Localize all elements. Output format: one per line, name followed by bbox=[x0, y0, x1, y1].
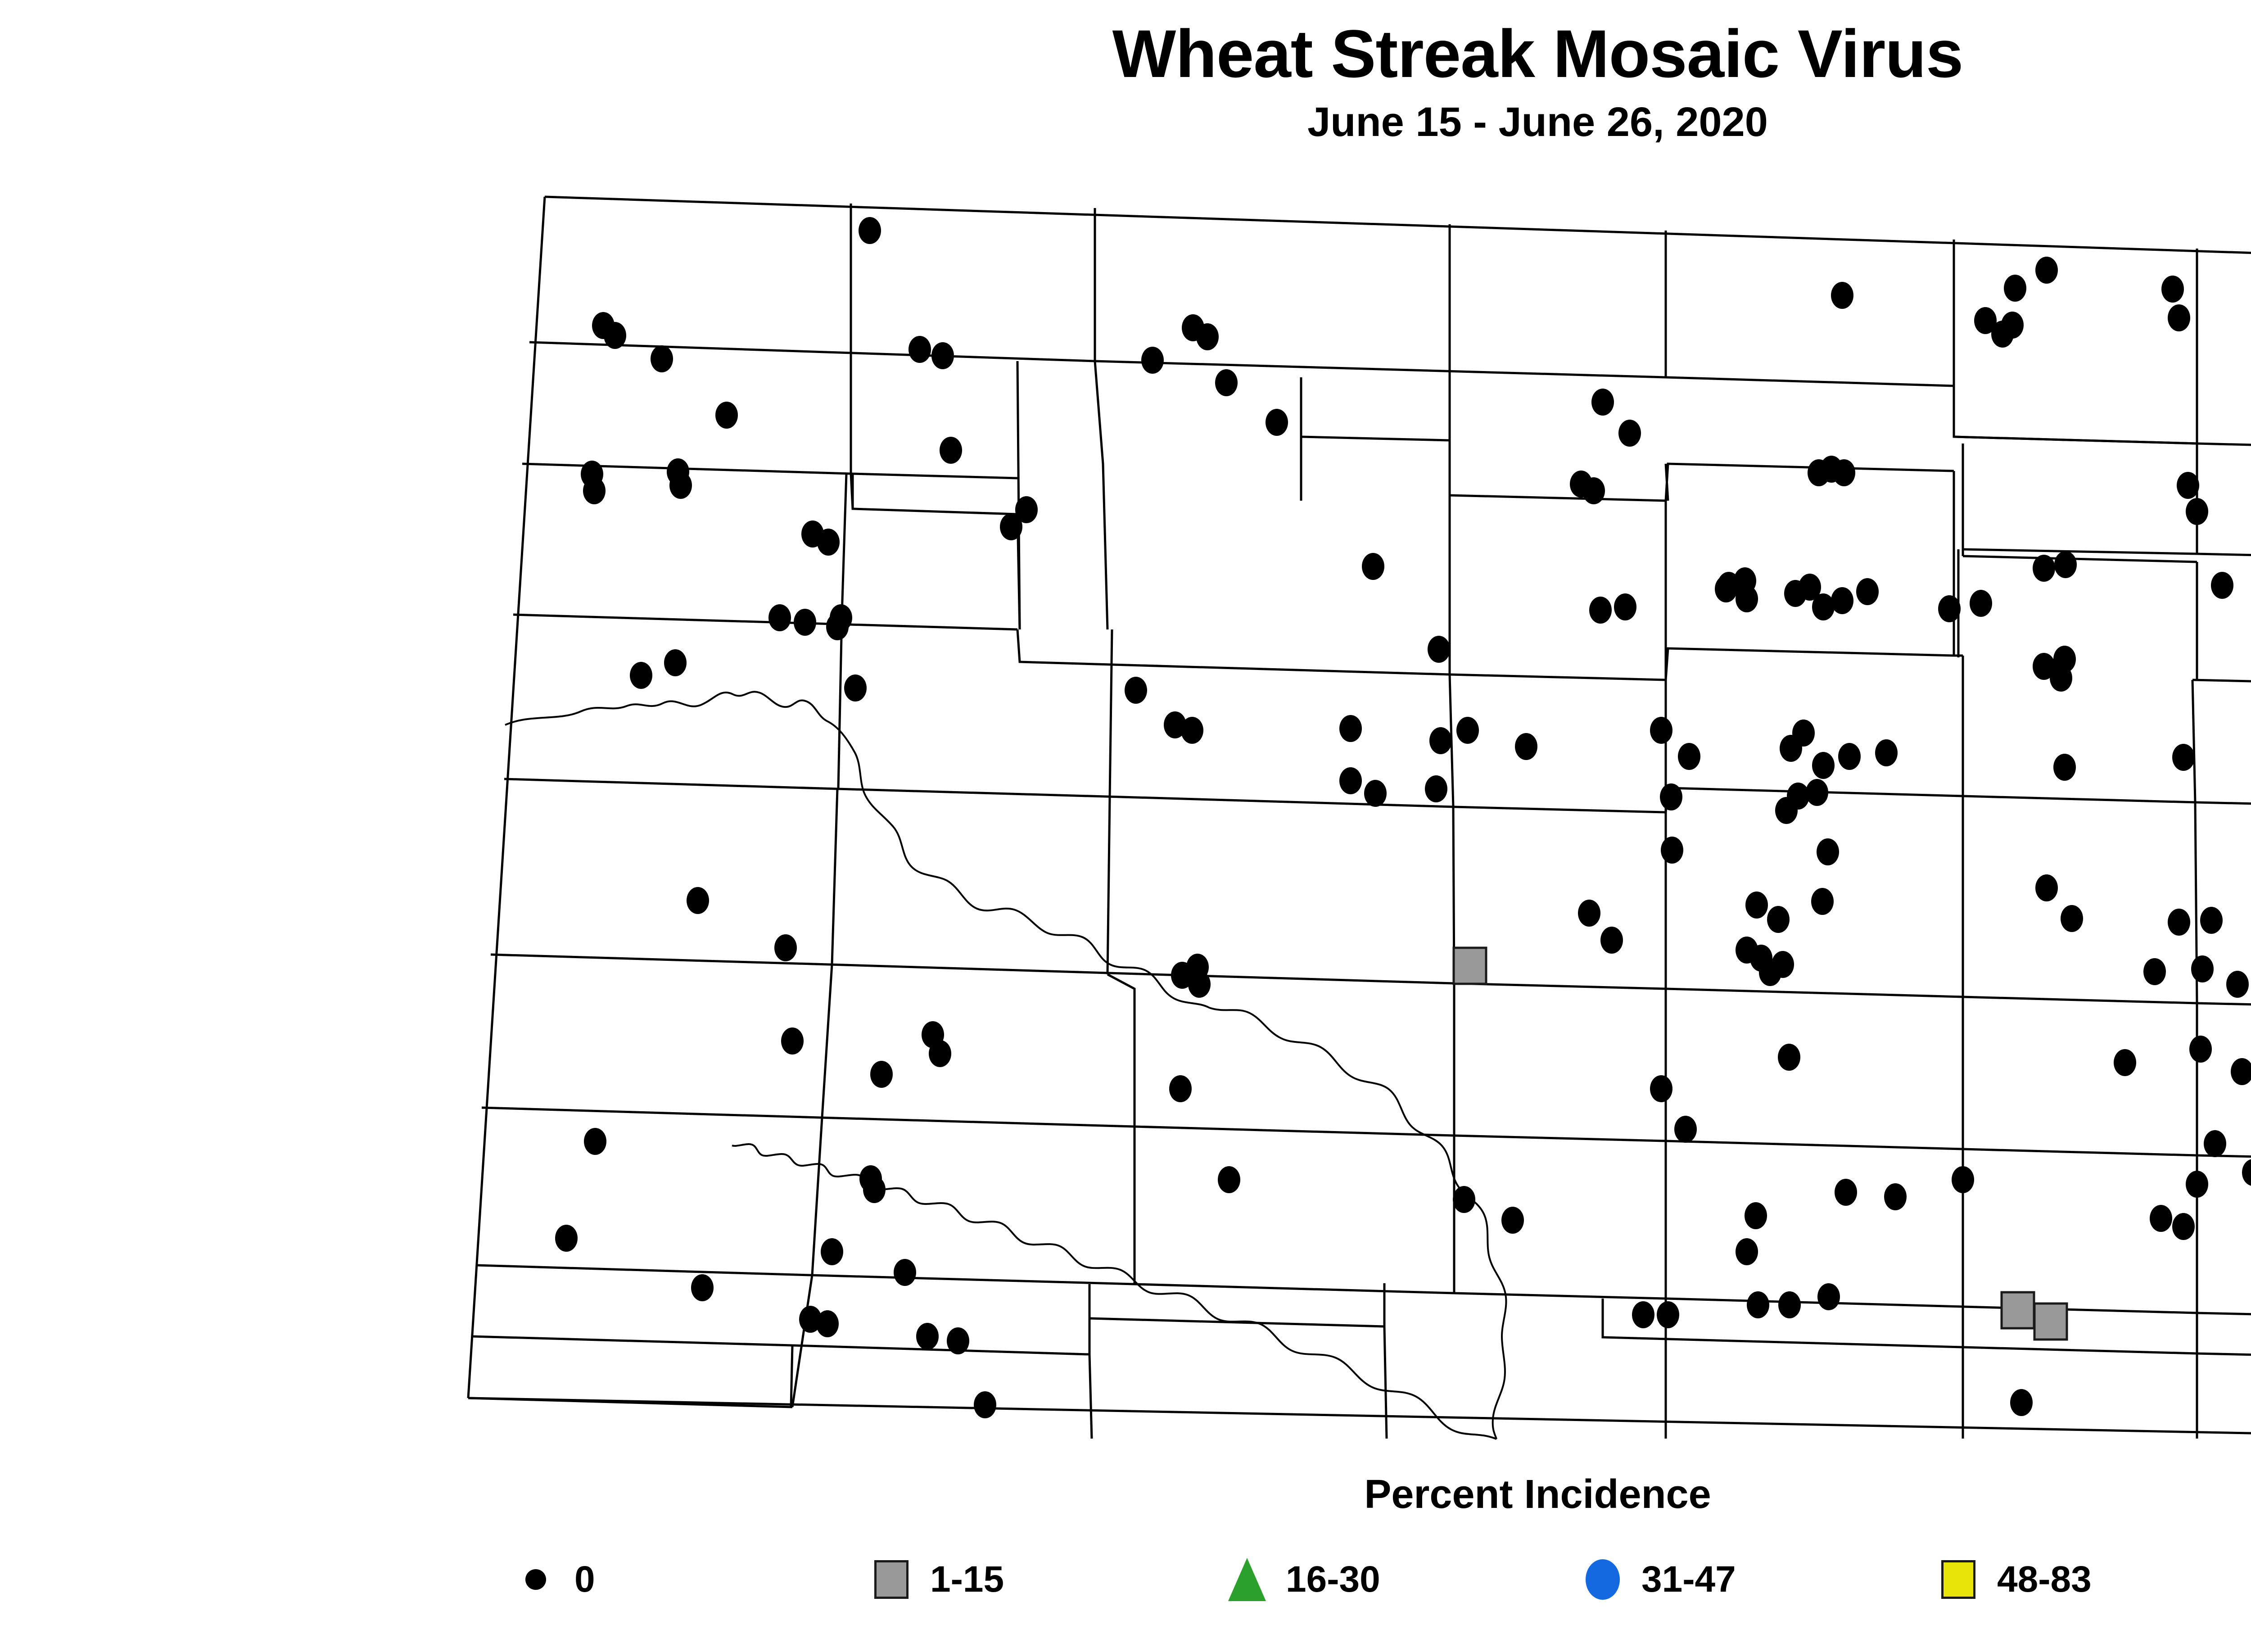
map-data-point bbox=[826, 613, 849, 640]
map-data-point bbox=[1181, 717, 1203, 744]
map-data-point bbox=[1456, 717, 1479, 744]
map-data-point bbox=[2033, 555, 2055, 582]
map-data-point bbox=[1578, 900, 1600, 927]
legend-square-icon bbox=[864, 1543, 918, 1616]
legend-item-label: 48-83 bbox=[1985, 1558, 2092, 1601]
map-data-point bbox=[1775, 797, 1798, 824]
map-data-point bbox=[1747, 1291, 1769, 1318]
map-data-point bbox=[2050, 665, 2072, 692]
map-data-point bbox=[2035, 257, 2058, 284]
map-data-point bbox=[2211, 572, 2233, 599]
map-data-point bbox=[2191, 955, 2214, 982]
map-data-point bbox=[1838, 743, 1861, 770]
legend-symbol bbox=[525, 1569, 546, 1590]
map-data-point bbox=[1817, 838, 1839, 865]
map-data-point bbox=[584, 1128, 606, 1155]
map-data-point bbox=[687, 887, 709, 914]
map-data-point bbox=[664, 649, 687, 676]
map-data-point bbox=[863, 1176, 886, 1203]
map-data-point bbox=[1169, 1075, 1192, 1102]
map-data-point bbox=[2034, 1303, 2067, 1340]
map-data-point bbox=[2172, 1213, 2195, 1240]
map-data-point bbox=[1454, 948, 1486, 984]
map-data-point bbox=[2189, 1036, 2212, 1063]
map-data-point bbox=[1600, 927, 1623, 954]
map-data-point bbox=[1745, 892, 1768, 919]
legend-triangle-icon bbox=[1220, 1543, 1274, 1616]
map-data-point bbox=[1835, 1179, 1857, 1206]
map-data-point bbox=[1196, 323, 1219, 350]
map-data-point bbox=[1817, 1283, 1840, 1310]
map-data-point bbox=[2035, 874, 2058, 901]
map-data-point bbox=[940, 437, 962, 464]
map-data-point bbox=[669, 472, 692, 499]
map-data-point bbox=[1632, 1301, 1654, 1328]
map-data-point bbox=[2231, 1058, 2251, 1085]
map-data-point bbox=[1811, 888, 1834, 915]
map-data-point bbox=[1767, 906, 1790, 933]
map-data-point bbox=[859, 217, 881, 244]
map-data-point bbox=[794, 609, 816, 636]
map-data-point bbox=[1362, 553, 1384, 580]
legend-item-label: 1-15 bbox=[918, 1558, 1004, 1601]
map-data-point bbox=[1778, 1291, 1801, 1318]
map-data-point bbox=[1812, 752, 1835, 779]
map-data-point bbox=[1674, 1116, 1697, 1143]
legend-dot-icon bbox=[509, 1543, 563, 1616]
page-subtitle: June 15 - June 26, 2020 bbox=[0, 90, 2251, 143]
map-data-point bbox=[2004, 275, 2026, 302]
map-data-point bbox=[909, 336, 931, 363]
north-dakota-county-map[interactable] bbox=[0, 149, 2251, 1477]
map-data-point bbox=[2010, 1389, 2033, 1416]
map-data-point bbox=[816, 1310, 839, 1337]
map-data-point bbox=[1171, 962, 1193, 989]
legend-item-1-15[interactable]: 1-15 bbox=[864, 1539, 1004, 1620]
legend-item-0[interactable]: 0 bbox=[509, 1539, 595, 1620]
map-data-point bbox=[2168, 909, 2190, 936]
map-data-point bbox=[1657, 1301, 1679, 1328]
map-data-point bbox=[2172, 744, 2195, 771]
map-data-point bbox=[1856, 578, 1879, 605]
map-data-point bbox=[1792, 720, 1815, 747]
map-data-point bbox=[2054, 551, 2077, 578]
map-data-point bbox=[1745, 1202, 1767, 1229]
map-data-point bbox=[1952, 1166, 1974, 1193]
map-data-point bbox=[1339, 767, 1362, 794]
map-data-point bbox=[947, 1327, 969, 1354]
map-data-point bbox=[1429, 727, 1452, 754]
map-data-point bbox=[630, 662, 652, 689]
legend-item-label: 0 bbox=[563, 1558, 595, 1601]
map-data-point bbox=[894, 1259, 916, 1286]
map-data-point bbox=[821, 1238, 843, 1265]
map-data-point bbox=[2114, 1049, 2136, 1076]
map-data-point bbox=[1125, 677, 1147, 704]
map-data-point bbox=[2177, 472, 2199, 499]
map-data-point bbox=[768, 604, 791, 631]
map-data-point bbox=[2168, 304, 2190, 331]
map-data-point bbox=[1736, 1238, 1758, 1265]
map-data-point bbox=[715, 402, 738, 429]
legend-item-label: 16-30 bbox=[1274, 1558, 1380, 1601]
map-data-point bbox=[2204, 1130, 2226, 1157]
map-data-point bbox=[1215, 369, 1238, 396]
map-data-point bbox=[1141, 347, 1164, 374]
map-data-point bbox=[844, 674, 867, 702]
title-block: Wheat Streak Mosaic Virus June 15 - June… bbox=[0, 18, 2251, 143]
map-data-point bbox=[1650, 1075, 1672, 1102]
map-data-point bbox=[1833, 459, 1855, 486]
map-data-point bbox=[1715, 575, 1737, 602]
map-data-point bbox=[1660, 783, 1682, 810]
map-data-point bbox=[1515, 733, 1537, 760]
map-data-point bbox=[1799, 574, 1821, 601]
map-data-point bbox=[1884, 1183, 1907, 1210]
map-data-point bbox=[1831, 587, 1853, 614]
map-data-point bbox=[2002, 1292, 2034, 1328]
map-data-point bbox=[1650, 717, 1672, 744]
county-boundaries bbox=[468, 197, 2251, 1439]
map-data-point bbox=[1425, 775, 1447, 802]
map-data-point bbox=[1266, 409, 1288, 436]
legend-symbol bbox=[874, 1560, 909, 1599]
map-data-point bbox=[1736, 585, 1758, 612]
map-data-point bbox=[2226, 971, 2249, 998]
map-data-point bbox=[1778, 1044, 1800, 1071]
map-data-point bbox=[555, 1225, 578, 1252]
map-data-point bbox=[1875, 739, 1898, 766]
map-data-point bbox=[1218, 1166, 1240, 1193]
map-data-point bbox=[774, 934, 797, 961]
legend-item-31-47[interactable]: 31-47 bbox=[1576, 1539, 1736, 1620]
map-data-point bbox=[1364, 780, 1387, 807]
map-data-point bbox=[1614, 593, 1636, 620]
map-data-point bbox=[817, 529, 840, 556]
map-data-point bbox=[1591, 389, 1614, 416]
page-title: Wheat Streak Mosaic Virus bbox=[0, 18, 2251, 90]
map-data-point bbox=[2053, 754, 2076, 781]
legend-item-16-30[interactable]: 16-30 bbox=[1220, 1539, 1380, 1620]
map-data-point bbox=[916, 1323, 939, 1350]
map-data-point bbox=[2143, 958, 2166, 985]
map-data-point bbox=[1806, 779, 1828, 806]
map-data-point bbox=[1991, 321, 2014, 348]
map-data-point bbox=[1501, 1207, 1524, 1234]
map-data-point bbox=[2161, 276, 2184, 303]
map-data-point bbox=[1970, 590, 1992, 617]
map-data-point bbox=[974, 1391, 996, 1418]
map-data-point bbox=[1831, 282, 1853, 309]
map-data-point bbox=[2242, 1159, 2251, 1186]
map-data-point bbox=[1582, 477, 1605, 504]
map-data-point bbox=[2186, 1171, 2208, 1198]
map-data-point bbox=[1000, 513, 1022, 540]
map-data-point bbox=[583, 477, 606, 504]
legend-item-48-83[interactable]: 48-83 bbox=[1931, 1539, 2092, 1620]
legend-circle-icon bbox=[1576, 1543, 1630, 1616]
legend-symbol bbox=[1586, 1559, 1620, 1600]
legend-square-icon bbox=[1931, 1543, 1985, 1616]
map-container[interactable] bbox=[0, 149, 2251, 1477]
map-data-point bbox=[604, 322, 626, 349]
map-data-point bbox=[1772, 951, 1794, 978]
map-data-point bbox=[1339, 715, 1362, 742]
legend-item-label: 31-47 bbox=[1630, 1558, 1736, 1601]
map-data-point bbox=[651, 345, 673, 372]
map-data-point bbox=[2061, 905, 2083, 932]
map-data-point bbox=[781, 1027, 804, 1055]
map-data-point bbox=[1428, 636, 1450, 663]
map-data-point bbox=[2186, 498, 2208, 525]
map-data-point bbox=[929, 1040, 951, 1067]
map-data-point bbox=[2150, 1205, 2172, 1232]
map-data-point bbox=[1938, 595, 1961, 622]
map-page: Wheat Streak Mosaic Virus June 15 - June… bbox=[0, 0, 2251, 1652]
map-data-point bbox=[1618, 420, 1641, 447]
legend: 01-1516-3031-4748-83> 83 bbox=[509, 1539, 2251, 1620]
map-data-point bbox=[1589, 597, 1612, 624]
map-data-point bbox=[691, 1274, 714, 1301]
legend-title: Percent Incidence bbox=[0, 1471, 2251, 1518]
map-data-point bbox=[2200, 907, 2223, 934]
legend-symbol bbox=[1941, 1560, 1975, 1599]
map-data-point bbox=[870, 1061, 893, 1088]
map-data-point bbox=[1678, 743, 1700, 770]
legend-symbol bbox=[1228, 1558, 1266, 1601]
map-data-point bbox=[1661, 837, 1683, 864]
map-data-point bbox=[931, 342, 954, 369]
map-data-point bbox=[1453, 1186, 1475, 1213]
data-points bbox=[555, 217, 2251, 1418]
